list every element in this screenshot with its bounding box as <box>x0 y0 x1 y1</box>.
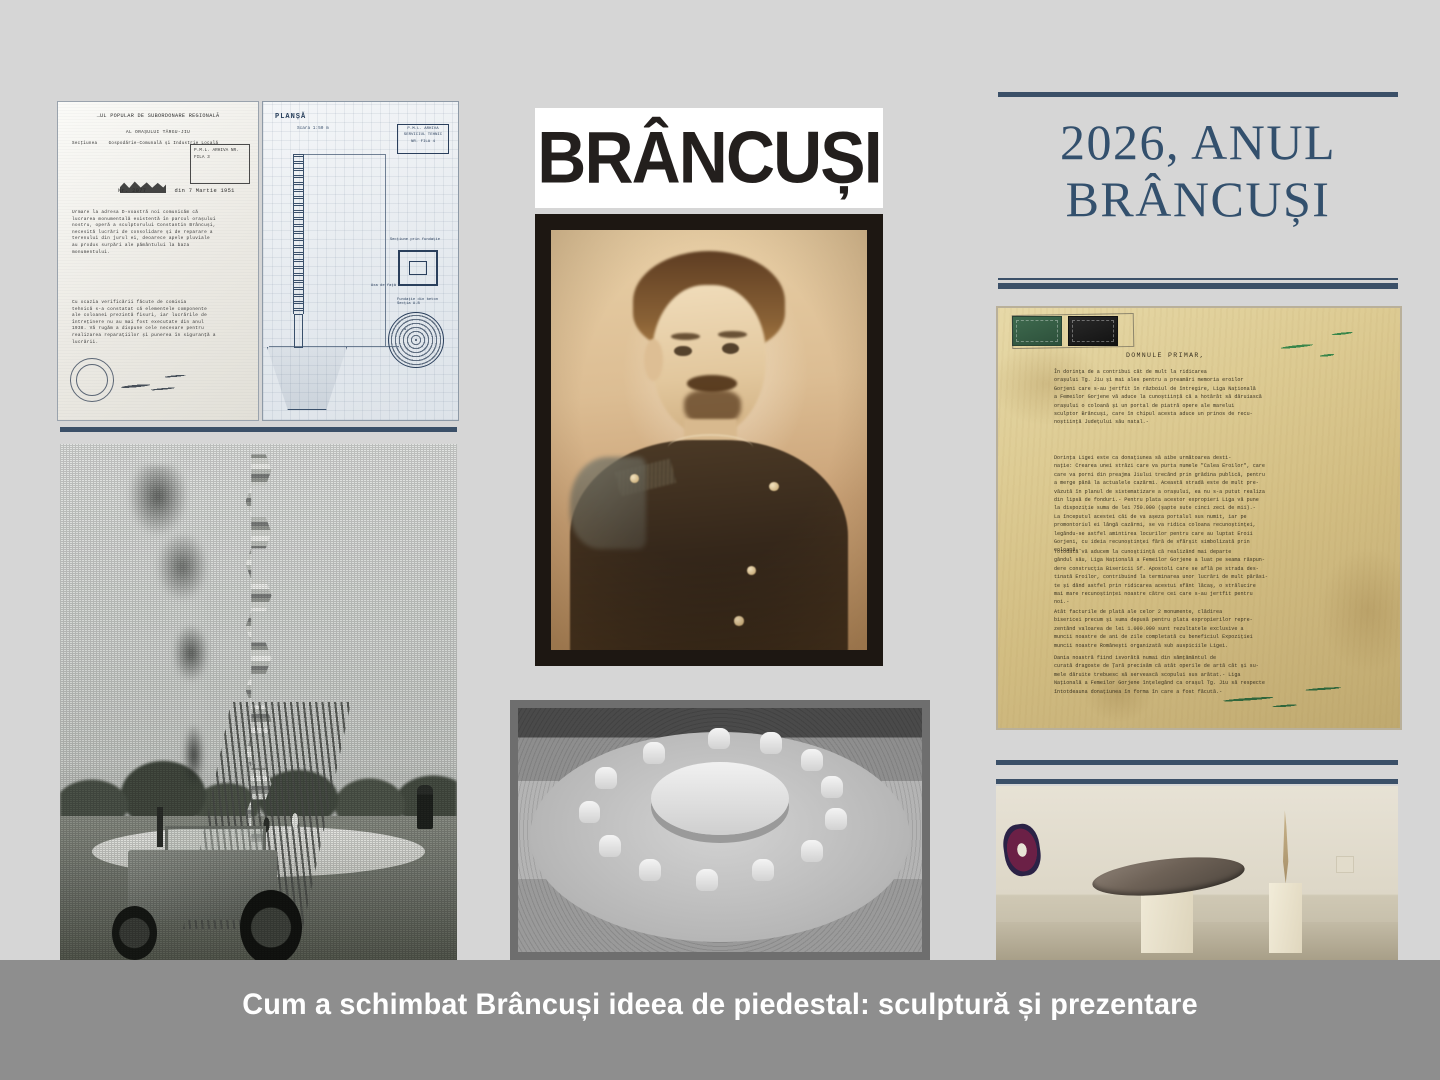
title-block: 2026, ANUL BRÂNCUȘI <box>998 92 1398 292</box>
stool-4 <box>821 776 843 798</box>
letter-paragraph-2: Dorința Ligei este ca donațiunea să aibe… <box>1054 454 1388 555</box>
blueprint-note-foundation: Fundație din beton Secția A-B <box>397 298 438 306</box>
column-base-drawing <box>294 314 303 348</box>
stool-1 <box>708 728 730 750</box>
title-line-2: BRÂNCUȘI <box>998 171 1398 228</box>
stool-2 <box>760 732 782 754</box>
divider-rule-gallery-bottom <box>996 779 1398 784</box>
page-title: 2026, ANUL BRÂNCUȘI <box>998 114 1398 228</box>
pedestal-left <box>1141 890 1193 953</box>
stool-6 <box>801 840 823 862</box>
archive-doc-registration: Nr. 2077 din 7 Martie 1951 <box>118 188 235 194</box>
portrait-vignette <box>551 230 867 650</box>
archive-doc-subheader: AL ORAȘULUI TÂRGU-JIU <box>62 130 254 135</box>
stone-table <box>651 762 788 835</box>
stool-10 <box>599 835 621 857</box>
pedestal-right <box>1269 883 1301 953</box>
endless-column-photo[interactable] <box>60 444 457 960</box>
letter-paragraph-1: În dorința de a contribui cât de mult la… <box>1054 368 1388 427</box>
column-elevation-drawing <box>293 154 304 314</box>
blueprint-label: PLANȘĂ <box>275 113 306 121</box>
archive-doc-header: …UL POPULAR DE SUBORDONARE REGIONALĂ <box>62 112 254 120</box>
blueprint-archive-box: P.M.L. ARHIVA SERVICIUL TEHNIC NR. FILA … <box>397 124 449 154</box>
photo-film-grain <box>60 444 457 960</box>
caption-text: Cum a schimbat Brâncuși ideea de piedest… <box>29 988 1411 1022</box>
divider-rule-left <box>60 427 457 432</box>
dimension-line-vertical <box>385 154 386 346</box>
dimension-line-top <box>293 154 385 155</box>
blueprint-drawing-image[interactable]: PLANȘĂ Scara 1:50 m P.M.L. ARHIVA SERVIC… <box>262 101 459 421</box>
brancusi-portrait-image[interactable] <box>535 214 883 666</box>
divider-rule-gallery-top <box>996 760 1398 765</box>
dimension-line-base <box>269 346 399 347</box>
title-rule-top <box>998 92 1398 97</box>
circular-foundation-detail <box>388 312 444 368</box>
blueprint-scale-note: Scara 1:50 m <box>297 126 329 131</box>
title-line-1: 2026, ANUL <box>998 114 1398 171</box>
slide-canvas: …UL POPULAR DE SUBORDONARE REGIONALĂ AL … <box>0 0 1440 1080</box>
stool-7 <box>752 859 774 881</box>
archive-stamp-box: P.M.L. ARHIVA NR. FILA 3 <box>190 144 250 184</box>
round-stamp-icon <box>70 358 114 402</box>
stool-13 <box>643 742 665 764</box>
gallery-floor <box>996 922 1398 960</box>
historic-letter-image[interactable]: DOMNULE PRIMAR, În dorința de a contribu… <box>996 306 1402 730</box>
gallery-interior-photo[interactable] <box>996 786 1398 960</box>
letter-paragraph-3: Totodată vă aducem la cunoștiință că rea… <box>1054 548 1388 607</box>
brancusi-banner: BRÂNCUȘI <box>535 108 883 208</box>
archive-doc-body-1: Urmare la adresa D-voastră noi comunicăm… <box>72 210 250 256</box>
wall-switch-plate <box>1336 856 1354 874</box>
blueprint-note-axis: Axa de față <box>371 284 396 288</box>
title-rule-thin <box>998 278 1398 280</box>
square-section-detail <box>398 250 438 286</box>
title-rule-bottom <box>998 283 1398 289</box>
table-photo-inner <box>518 708 922 952</box>
portrait-photo <box>551 230 867 650</box>
stool-12 <box>595 767 617 789</box>
table-of-silence-photo[interactable] <box>510 700 930 960</box>
stool-3 <box>801 749 823 771</box>
brancusi-banner-text: BRÂNCUȘI <box>537 122 880 195</box>
stool-5 <box>825 808 847 830</box>
stool-8 <box>696 869 718 891</box>
caption-bar: Cum a schimbat Brâncuși ideea de piedest… <box>0 960 1440 1080</box>
stool-11 <box>579 801 601 823</box>
letter-salutation: DOMNULE PRIMAR, <box>1126 352 1205 359</box>
archive-document-image[interactable]: …UL POPULAR DE SUBORDONARE REGIONALĂ AL … <box>57 101 259 421</box>
stool-9 <box>639 859 661 881</box>
stamp-cancellation-mark <box>1012 313 1135 349</box>
letter-paragraph-4: Atât facturile de plată ale celor 2 monu… <box>1054 608 1388 650</box>
blueprint-note-section: Secțiune prin fundație <box>390 238 440 242</box>
archive-doc-body-2: Cu ocazia verificării făcute de comisia … <box>72 300 250 346</box>
